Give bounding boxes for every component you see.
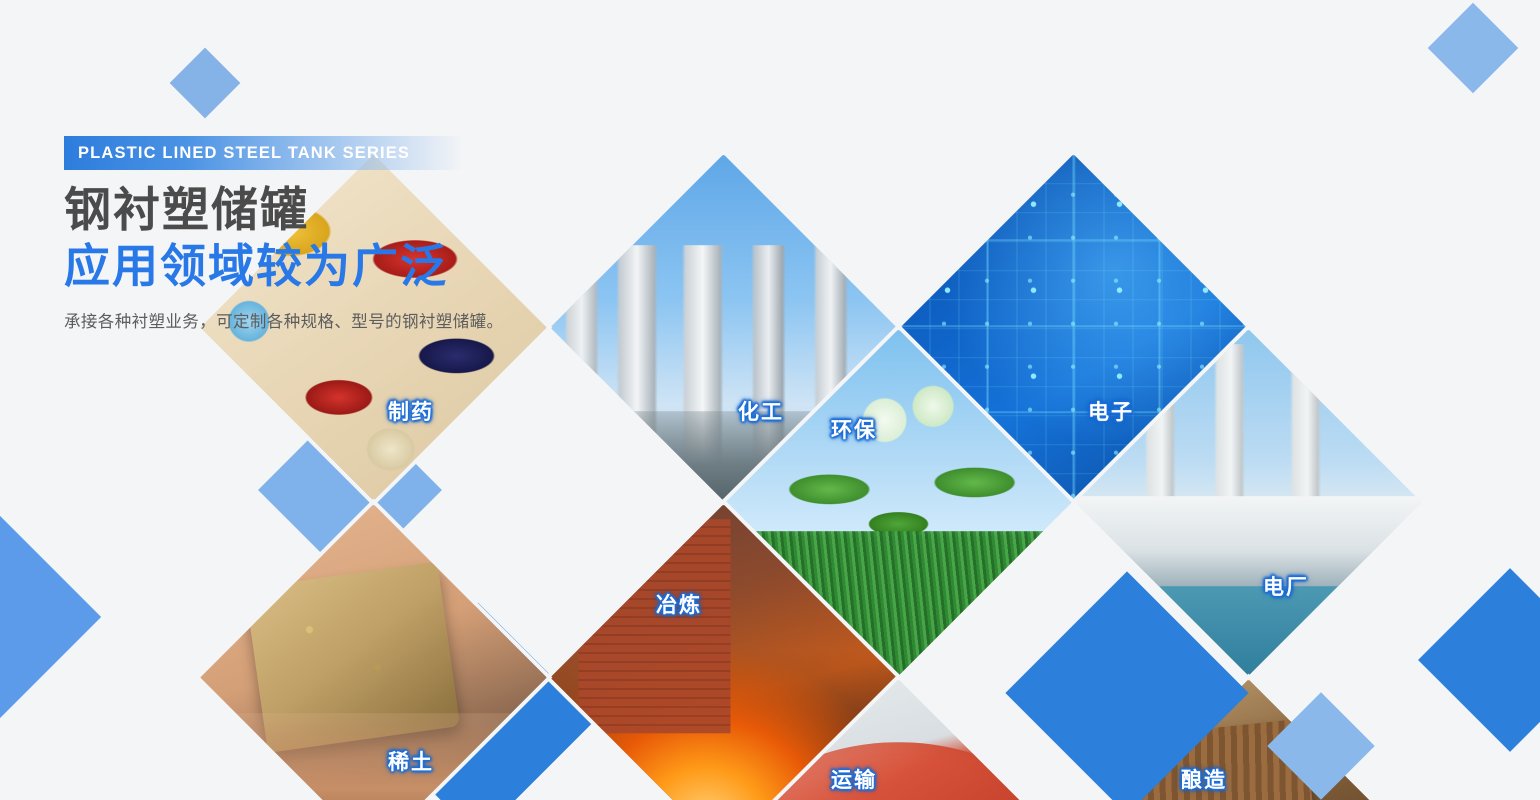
industry-mosaic: 电子化工电厂环保酿造制药冶炼运输稀土 xyxy=(0,0,1540,800)
mosaic-tile-label-powerplant: 电厂 xyxy=(1262,570,1308,600)
mosaic-tile-label-smelting: 冶炼 xyxy=(655,588,701,618)
mosaic-tile-label-electronics: 电子 xyxy=(1087,395,1133,425)
mosaic-tile-label-brewing: 酿造 xyxy=(1180,763,1226,793)
mosaic-tile-label-environment: 环保 xyxy=(830,413,876,443)
eyebrow-text: PLASTIC LINED STEEL TANK SERIES xyxy=(64,144,410,163)
mosaic-tile-label-transport: 运输 xyxy=(830,763,876,793)
page-subtitle: 应用领域较为广泛 xyxy=(64,241,624,293)
scene-rareearth xyxy=(200,504,546,800)
mosaic-tile-label-pharma: 制药 xyxy=(387,395,433,425)
headline-block: PLASTIC LINED STEEL TANK SERIES 钢衬塑储罐 应用… xyxy=(64,136,624,332)
promo-banner: PLASTIC LINED STEEL TANK SERIES 钢衬塑储罐 应用… xyxy=(0,0,1540,800)
eyebrow-banner: PLASTIC LINED STEEL TANK SERIES xyxy=(64,136,464,170)
page-title: 钢衬塑储罐 xyxy=(64,184,624,237)
mosaic-tile-image-brewing xyxy=(1075,679,1421,800)
page-description: 承接各种衬塑业务，可定制各种规格、型号的钢衬塑储罐。 xyxy=(64,308,624,332)
mosaic-tile-brewing[interactable]: 酿造 xyxy=(1075,679,1421,800)
mosaic-tile-label-chemical: 化工 xyxy=(737,395,783,425)
scene-brewing xyxy=(1075,679,1421,800)
mosaic-tile-label-rareearth: 稀土 xyxy=(387,745,433,775)
mosaic-tile-image-rareearth xyxy=(200,504,546,800)
mosaic-tile-rareearth[interactable]: 稀土 xyxy=(200,504,546,800)
